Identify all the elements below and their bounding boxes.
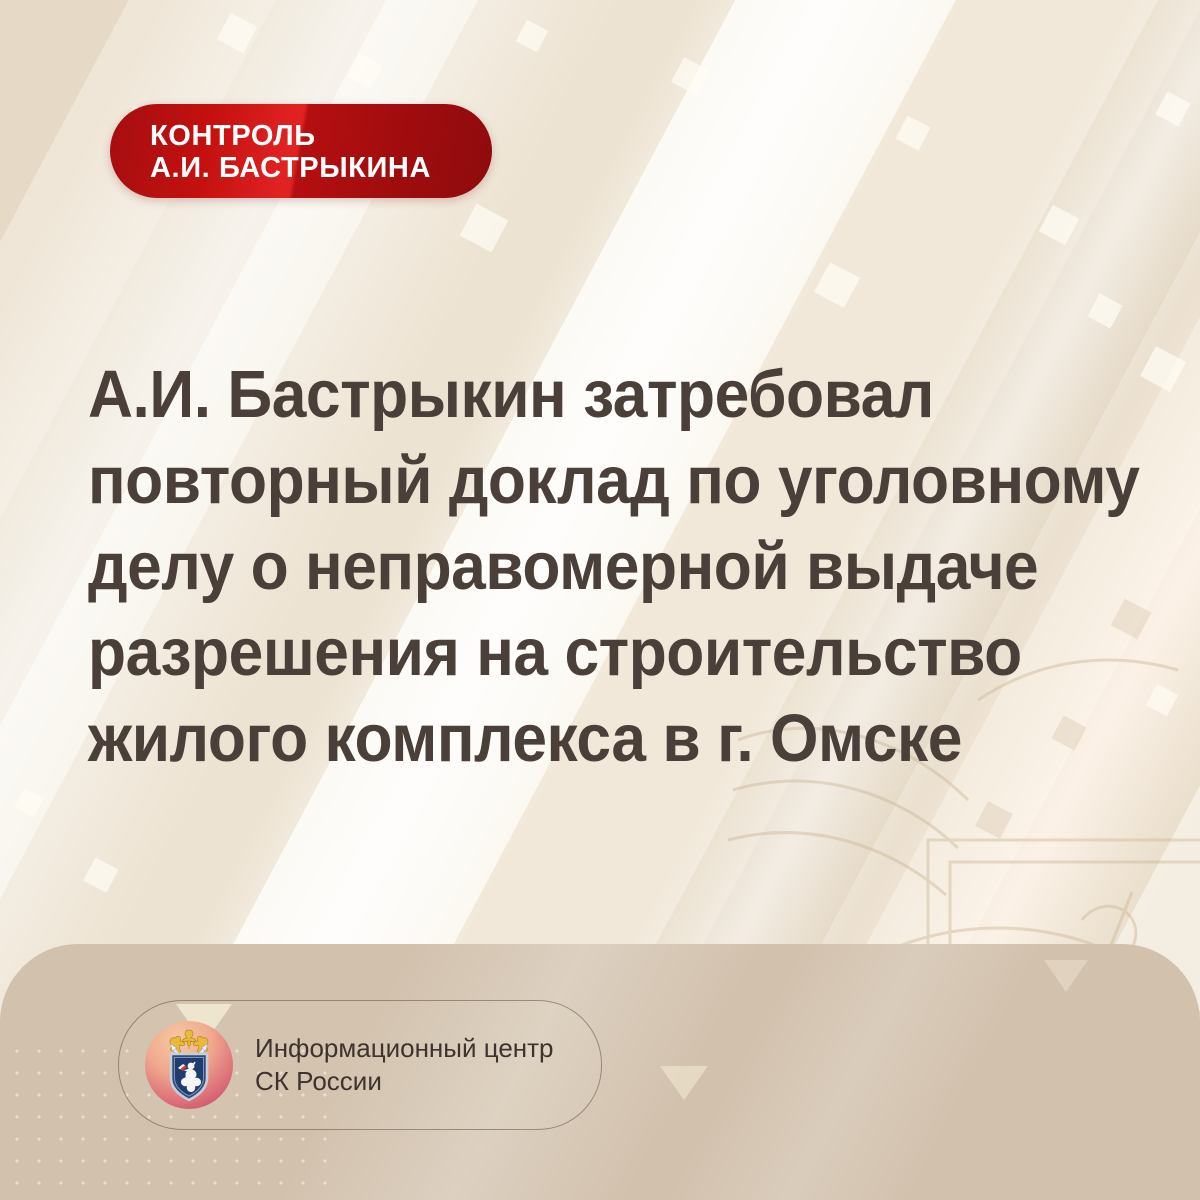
headline-line: разрешения на строительство [88, 610, 1088, 696]
triangle-decoration-icon [1044, 960, 1088, 992]
sk-russia-emblem-icon [145, 1021, 233, 1109]
page-title: А.И. Бастрыкин затребовал повторный докл… [88, 352, 1088, 782]
poster-canvas: СЛЕДСТВЕННЫЙ КОМИТЕТ РОССИЙСКОЙ КОНТРОЛЬ… [0, 0, 1200, 1200]
organization-label: Информационный центр СК России [255, 1032, 554, 1098]
headline-line: делу о неправомерной выдаче [88, 524, 1088, 610]
control-badge[interactable]: КОНТРОЛЬ А.И. БАСТРЫКИНА [110, 104, 492, 198]
headline-line: А.И. Бастрыкин затребовал [88, 352, 1088, 438]
control-badge-label: КОНТРОЛЬ А.И. БАСТРЫКИНА [150, 120, 482, 184]
triangle-decoration-icon [660, 1066, 708, 1100]
headline-line: повторный доклад по уголовному [88, 438, 1088, 524]
headline-line: жилого комплекса в г. Омске [88, 696, 1088, 782]
organization-badge[interactable]: Информационный центр СК России [118, 1000, 602, 1130]
